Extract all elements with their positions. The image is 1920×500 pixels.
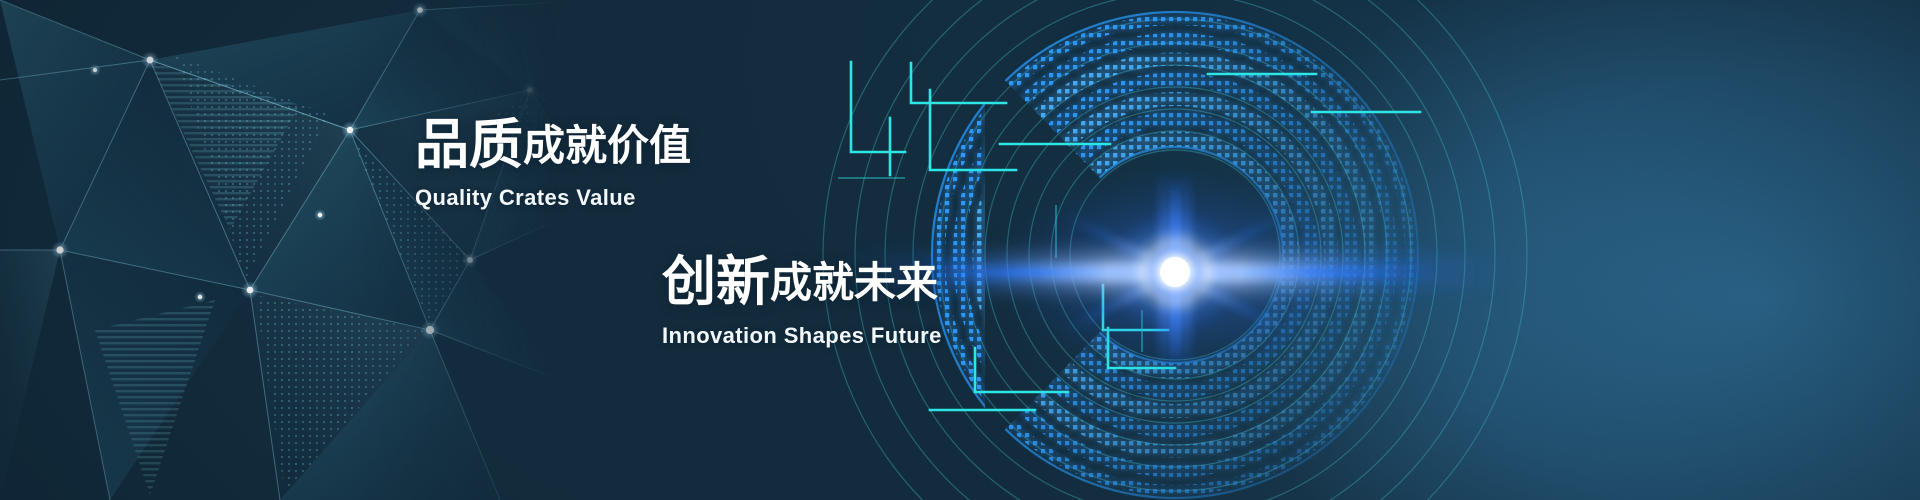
tagline-quality-cn-rest: 成就价值 (523, 122, 691, 169)
tagline-innovation-cn-strong: 创新 (662, 252, 770, 312)
tech-banner: 品质成就价值 Quality Crates Value 创新成就未来 Innov… (0, 0, 1920, 500)
tagline-innovation-english: Innovation Shapes Future (662, 323, 942, 349)
tagline-quality-chinese: 品质成就价值 (415, 118, 691, 172)
tagline-innovation-cn-rest: 成就未来 (770, 259, 938, 306)
lens-flare-star (0, 0, 1920, 500)
tagline-innovation-chinese: 创新成就未来 (662, 255, 942, 309)
tagline-quality-english: Quality Crates Value (415, 185, 691, 211)
tagline-quality-cn-strong: 品质 (415, 115, 523, 175)
tagline-innovation: 创新成就未来 Innovation Shapes Future (662, 255, 942, 349)
tagline-quality: 品质成就价值 Quality Crates Value (415, 118, 691, 211)
